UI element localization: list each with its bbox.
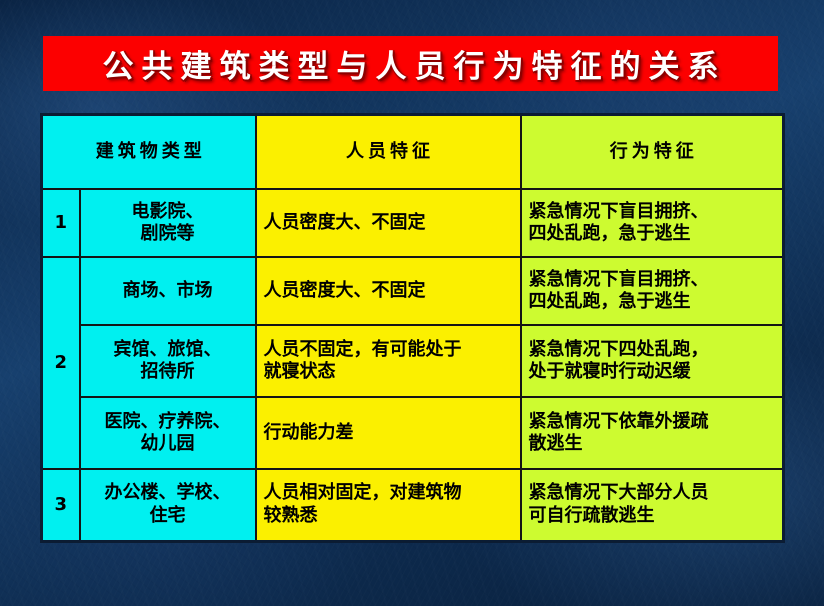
cell-building-type-line: 剧院等 bbox=[88, 223, 248, 246]
relation-table: 建筑物类型 人员特征 行为特征 1电影院、剧院等人员密度大、不固定紧急情况下盲目… bbox=[40, 113, 785, 543]
cell-people-characteristics: 人员相对固定，对建筑物较熟悉 bbox=[256, 469, 521, 541]
cell-building-type: 医院、疗养院、幼儿园 bbox=[80, 397, 256, 469]
cell-people-characteristics: 人员密度大、不固定 bbox=[256, 257, 521, 325]
table-body: 1电影院、剧院等人员密度大、不固定紧急情况下盲目拥挤、四处乱跑，急于逃生2商场、… bbox=[42, 189, 784, 541]
table-row: 宾馆、旅馆、招待所人员不固定，有可能处于就寝状态紧急情况下四处乱跑，处于就寝时行… bbox=[42, 325, 784, 397]
cell-behavior-characteristics-line: 四处乱跑，急于逃生 bbox=[529, 223, 776, 246]
cell-building-type-line: 办公楼、学校、 bbox=[88, 482, 248, 505]
cell-behavior-characteristics: 紧急情况下依靠外援疏散逃生 bbox=[521, 397, 784, 469]
cell-behavior-characteristics-line: 紧急情况下大部分人员 bbox=[529, 482, 776, 505]
cell-building-type-line: 幼儿园 bbox=[88, 433, 248, 456]
cell-building-type: 电影院、剧院等 bbox=[80, 189, 256, 257]
cell-behavior-characteristics: 紧急情况下大部分人员可自行疏散逃生 bbox=[521, 469, 784, 541]
title-banner: 公共建筑类型与人员行为特征的关系 bbox=[43, 36, 778, 91]
cell-building-type: 办公楼、学校、住宅 bbox=[80, 469, 256, 541]
cell-behavior-characteristics-line: 紧急情况下四处乱跑， bbox=[529, 339, 776, 362]
page-title: 公共建筑类型与人员行为特征的关系 bbox=[95, 41, 727, 86]
cell-people-characteristics: 行动能力差 bbox=[256, 397, 521, 469]
cell-people-characteristics-line: 较熟悉 bbox=[264, 505, 513, 528]
table-row: 1电影院、剧院等人员密度大、不固定紧急情况下盲目拥挤、四处乱跑，急于逃生 bbox=[42, 189, 784, 257]
cell-people-characteristics-line: 行动能力差 bbox=[264, 422, 513, 445]
row-number: 3 bbox=[42, 469, 80, 541]
cell-building-type-line: 宾馆、旅馆、 bbox=[88, 339, 248, 362]
row-number: 1 bbox=[42, 189, 80, 257]
table-row: 2商场、市场人员密度大、不固定紧急情况下盲目拥挤、四处乱跑，急于逃生 bbox=[42, 257, 784, 325]
cell-people-characteristics-line: 人员相对固定，对建筑物 bbox=[264, 482, 513, 505]
cell-behavior-characteristics-line: 可自行疏散逃生 bbox=[529, 505, 776, 528]
cell-behavior-characteristics-line: 紧急情况下盲目拥挤、 bbox=[529, 269, 776, 292]
cell-building-type-line: 电影院、 bbox=[88, 201, 248, 224]
cell-behavior-characteristics: 紧急情况下盲目拥挤、四处乱跑，急于逃生 bbox=[521, 257, 784, 325]
cell-building-type: 宾馆、旅馆、招待所 bbox=[80, 325, 256, 397]
cell-behavior-characteristics-line: 紧急情况下依靠外援疏 bbox=[529, 411, 776, 434]
cell-people-characteristics-line: 人员密度大、不固定 bbox=[264, 212, 513, 235]
column-header-people-characteristics: 人员特征 bbox=[256, 115, 521, 190]
row-number: 2 bbox=[42, 257, 80, 469]
cell-people-characteristics-line: 就寝状态 bbox=[264, 361, 513, 384]
table-header-row: 建筑物类型 人员特征 行为特征 bbox=[42, 115, 784, 190]
cell-people-characteristics-line: 人员不固定，有可能处于 bbox=[264, 339, 513, 362]
cell-behavior-characteristics-line: 处于就寝时行动迟缓 bbox=[529, 361, 776, 384]
table-row: 医院、疗养院、幼儿园行动能力差紧急情况下依靠外援疏散逃生 bbox=[42, 397, 784, 469]
cell-people-characteristics-line: 人员密度大、不固定 bbox=[264, 280, 513, 303]
table-row: 3办公楼、学校、住宅人员相对固定，对建筑物较熟悉紧急情况下大部分人员可自行疏散逃… bbox=[42, 469, 784, 541]
table-header: 建筑物类型 人员特征 行为特征 bbox=[42, 115, 784, 190]
cell-building-type: 商场、市场 bbox=[80, 257, 256, 325]
cell-people-characteristics: 人员不固定，有可能处于就寝状态 bbox=[256, 325, 521, 397]
cell-behavior-characteristics-line: 四处乱跑，急于逃生 bbox=[529, 291, 776, 314]
cell-behavior-characteristics: 紧急情况下四处乱跑，处于就寝时行动迟缓 bbox=[521, 325, 784, 397]
cell-building-type-line: 商场、市场 bbox=[88, 280, 248, 303]
column-header-behavior-characteristics: 行为特征 bbox=[521, 115, 784, 190]
cell-building-type-line: 招待所 bbox=[88, 361, 248, 384]
cell-building-type-line: 住宅 bbox=[88, 505, 248, 528]
cell-building-type-line: 医院、疗养院、 bbox=[88, 411, 248, 434]
column-header-building-type: 建筑物类型 bbox=[42, 115, 256, 190]
cell-behavior-characteristics-line: 紧急情况下盲目拥挤、 bbox=[529, 201, 776, 224]
cell-behavior-characteristics: 紧急情况下盲目拥挤、四处乱跑，急于逃生 bbox=[521, 189, 784, 257]
cell-behavior-characteristics-line: 散逃生 bbox=[529, 433, 776, 456]
cell-people-characteristics: 人员密度大、不固定 bbox=[256, 189, 521, 257]
